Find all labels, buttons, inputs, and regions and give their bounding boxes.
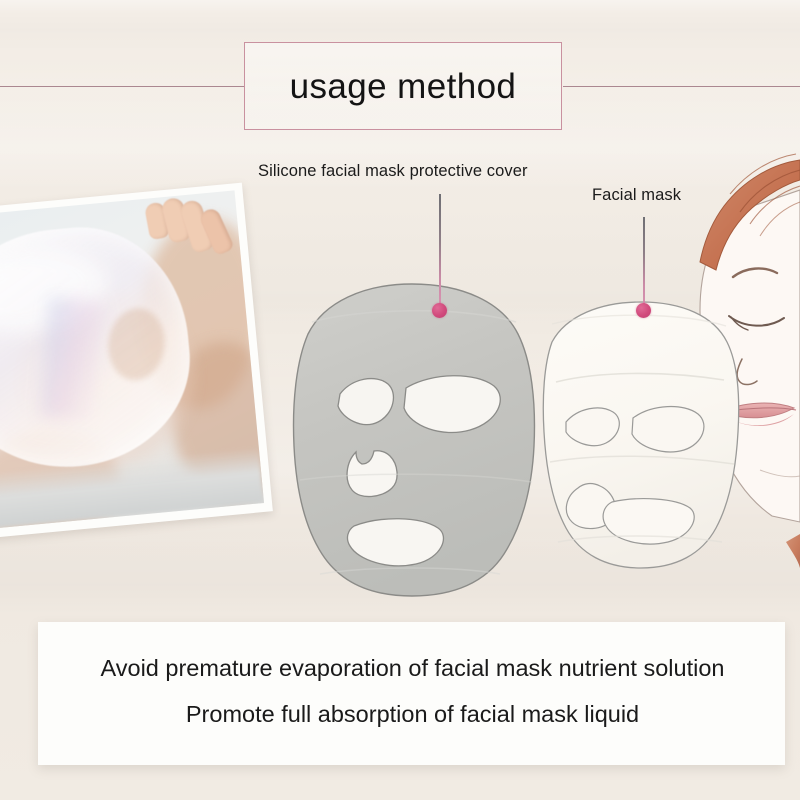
callout-dot-silicone-cover — [432, 303, 447, 318]
caption-card: Avoid premature evaporation of facial ma… — [38, 622, 785, 765]
callout-label-facial-mask: Facial mask — [592, 186, 681, 205]
sheet-eye-hole — [105, 305, 169, 383]
caption-line-1: Avoid premature evaporation of facial ma… — [40, 657, 785, 703]
callout-dot-facial-mask — [636, 303, 651, 318]
header-rule-left — [0, 86, 245, 87]
title-box: usage method — [244, 42, 562, 130]
callout-leader-line-silicone-cover — [439, 194, 441, 308]
callout-leader-line-facial-mask — [643, 217, 645, 308]
infographic-canvas: usage method Silicone facial mask protec… — [0, 0, 800, 800]
page-title: usage method — [290, 69, 517, 104]
sheet-mask-illustration — [543, 302, 738, 568]
sheet-iridescence — [40, 298, 105, 422]
photo-image — [0, 190, 264, 529]
header-rule-right — [563, 86, 800, 87]
callout-label-silicone-cover: Silicone facial mask protective cover — [258, 162, 528, 181]
caption-line-2: Promote full absorption of facial mask l… — [40, 703, 785, 727]
hand-holding-silicone-cover-photo — [0, 183, 273, 540]
silicone-mask-illustration — [294, 284, 535, 596]
